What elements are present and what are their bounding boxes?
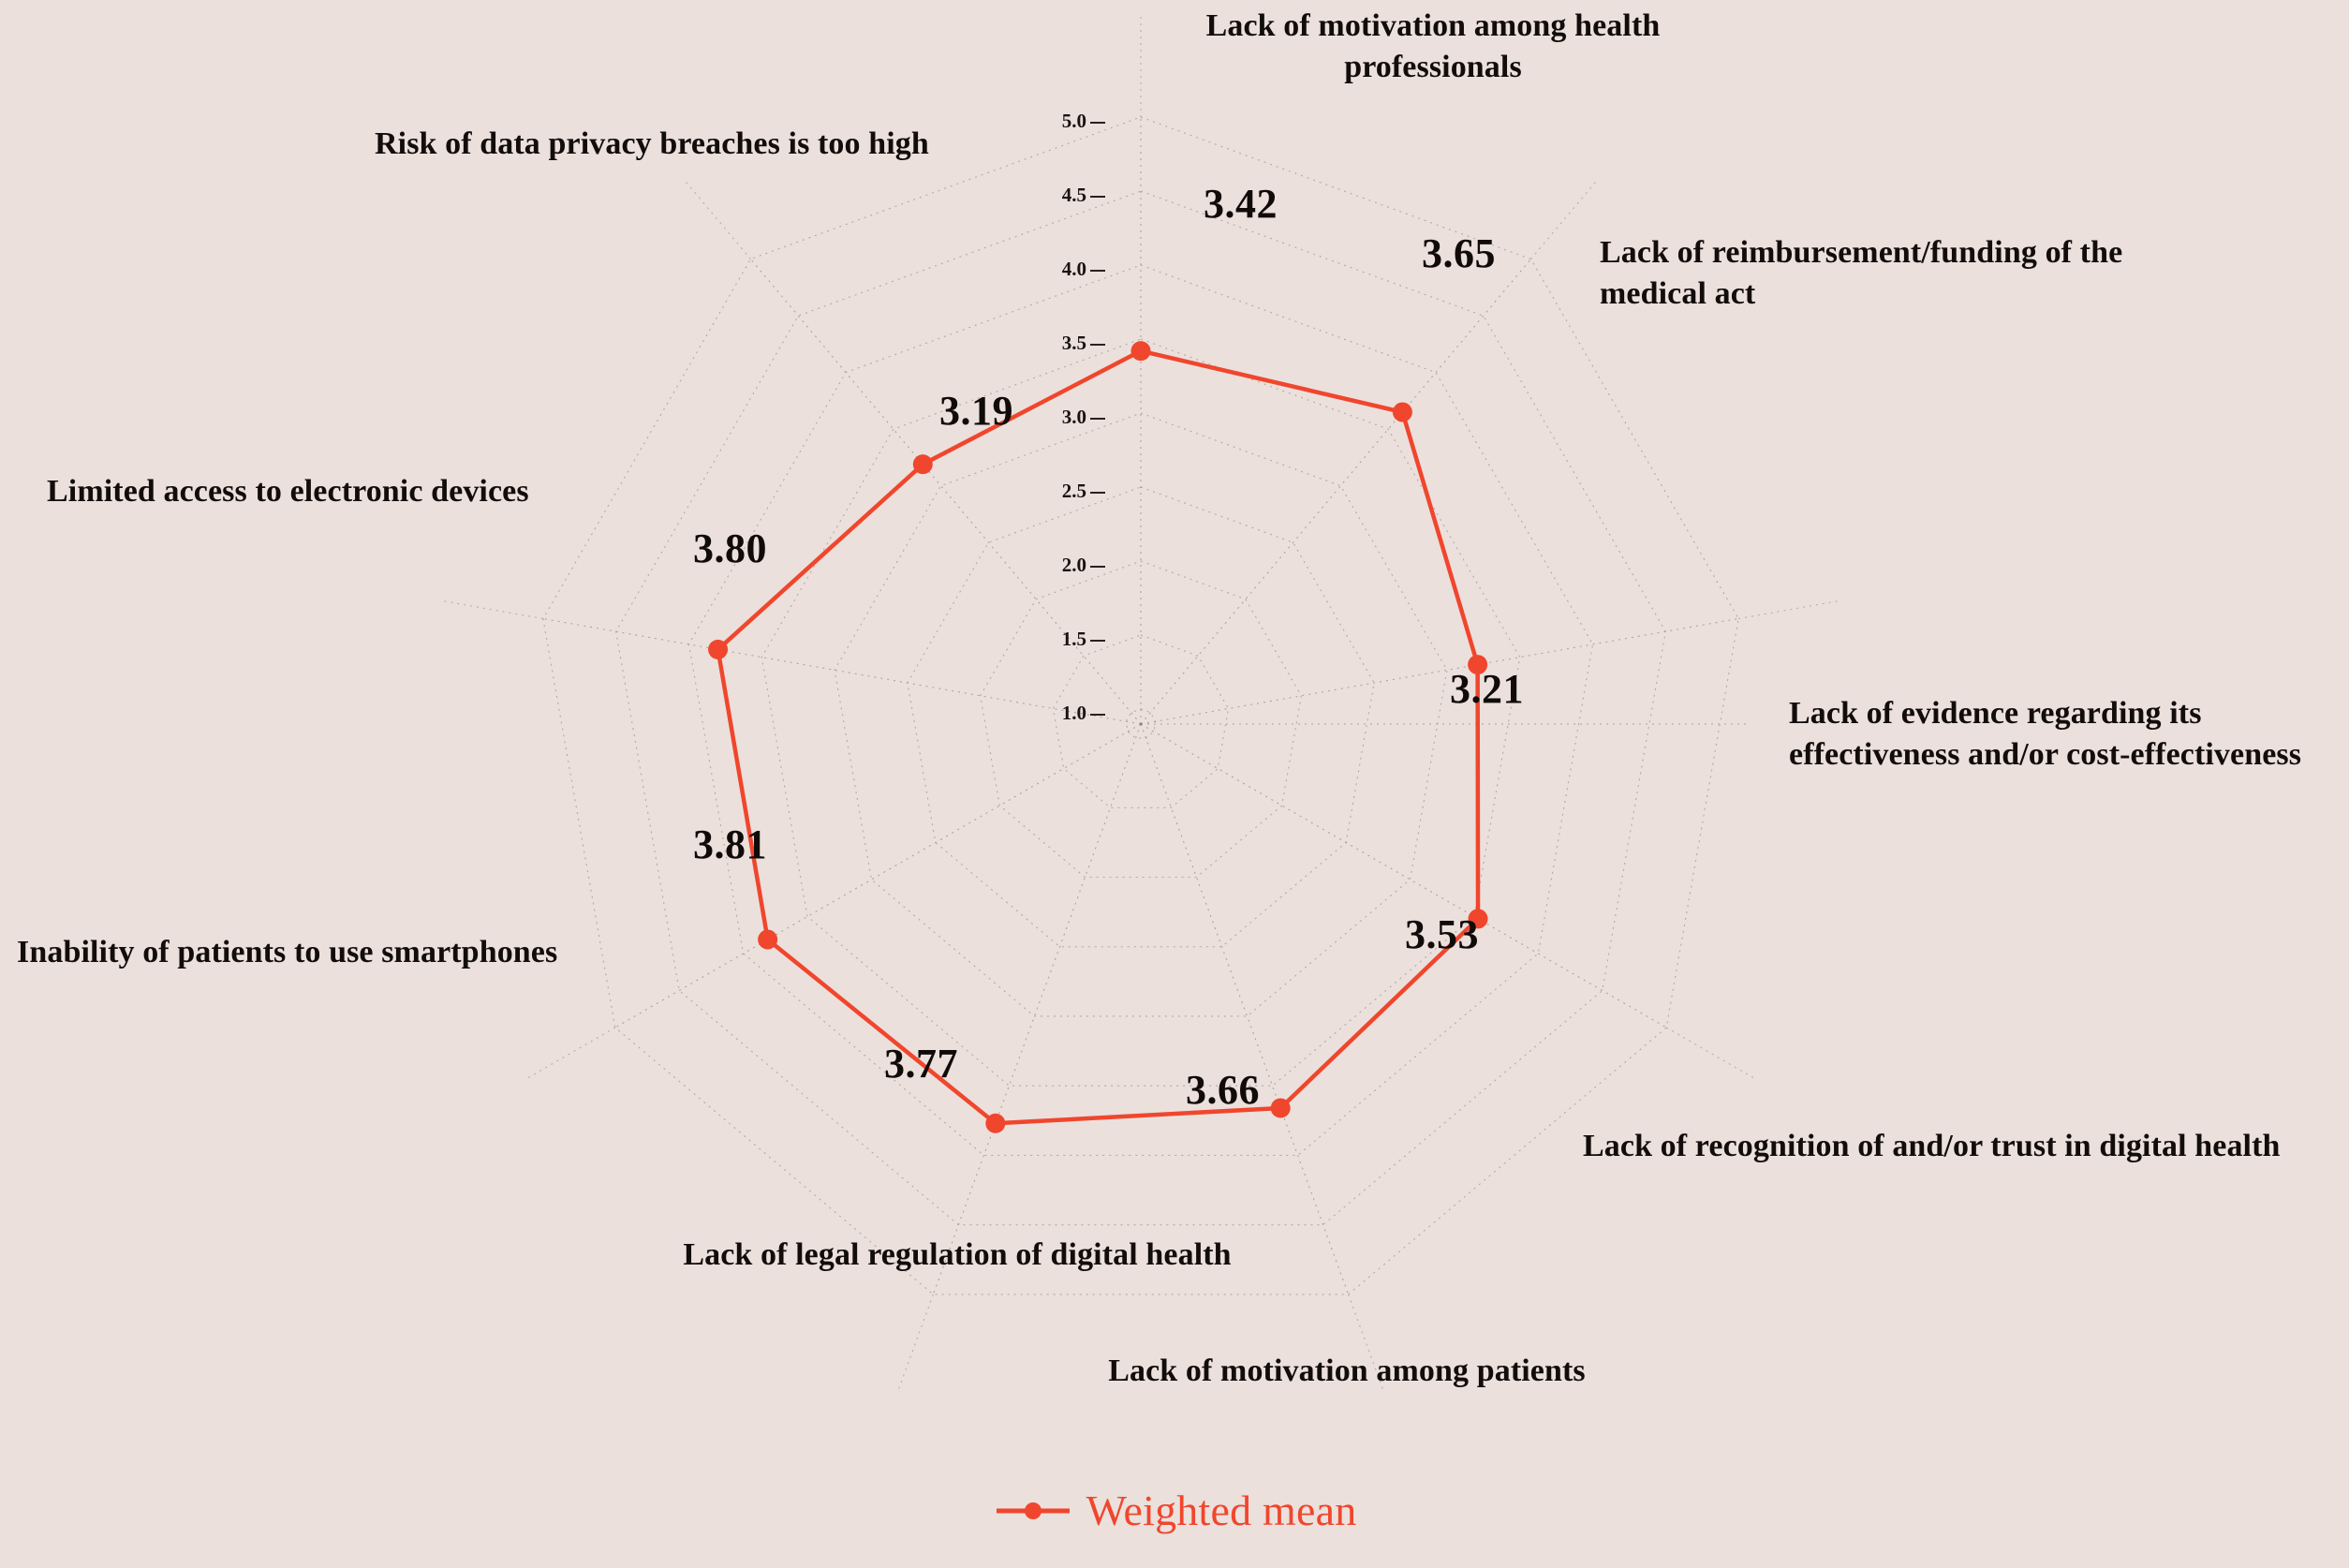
- grid-ring: [981, 561, 1302, 878]
- spoke-extension: [442, 600, 543, 618]
- radial-tick-label-6: 4.0: [1030, 258, 1086, 281]
- spoke: [1141, 724, 1349, 1294]
- radial-tick-label-5: 3.5: [1030, 332, 1086, 355]
- grid-ring: [835, 413, 1447, 1016]
- data-value-label-2: 3.21: [1450, 665, 1524, 713]
- spoke-extension: [1531, 180, 1598, 259]
- grid-ring: [543, 117, 1738, 1294]
- radial-tick-label-1: 1.5: [1030, 628, 1086, 651]
- data-value-label-1: 3.65: [1422, 229, 1496, 277]
- spoke: [1141, 724, 1666, 1028]
- radial-tick-mark-2: [1090, 566, 1105, 568]
- radial-spokes: [543, 117, 1738, 1294]
- grid-ring: [761, 339, 1520, 1086]
- data-point: [1131, 341, 1151, 361]
- data-value-label-3: 3.53: [1405, 910, 1479, 958]
- series-line-0: [718, 351, 1478, 1124]
- spoke-extension: [685, 180, 751, 259]
- data-point: [913, 454, 933, 474]
- data-value-label-7: 3.80: [693, 525, 767, 572]
- data-point: [1393, 403, 1412, 422]
- radial-tick-mark-7: [1090, 196, 1105, 198]
- category-label-6: Inability of patients to use smartphones: [17, 932, 598, 973]
- spoke: [615, 724, 1141, 1028]
- legend-label: Weighted mean: [1086, 1486, 1357, 1535]
- category-label-8: Risk of data privacy breaches is too hig…: [375, 124, 1012, 165]
- category-label-3: Lack of recognition of and/or trust in d…: [1583, 1126, 2342, 1167]
- category-label-2: Lack of evidence regarding its effective…: [1789, 693, 2349, 775]
- category-label-0: Lack of motivation among health professi…: [1133, 6, 1733, 87]
- data-value-label-8: 3.19: [939, 387, 1013, 435]
- radial-tick-mark-0: [1090, 714, 1105, 716]
- radial-tick-mark-4: [1090, 418, 1105, 420]
- spoke-extension: [526, 1028, 615, 1079]
- radial-tick-mark-6: [1090, 270, 1105, 272]
- data-value-label-4: 3.66: [1186, 1066, 1260, 1114]
- data-point: [1271, 1098, 1291, 1117]
- data-point: [758, 929, 777, 949]
- spoke: [933, 724, 1141, 1294]
- category-label-4: Lack of motivation among patients: [1066, 1351, 1628, 1392]
- category-label-7: Limited access to electronic devices: [47, 471, 590, 512]
- radial-tick-label-8: 5.0: [1030, 110, 1086, 133]
- radar-chart-figure: Lack of motivation among health professi…: [0, 0, 2349, 1568]
- category-label-1: Lack of reimbursement/funding of the med…: [1600, 232, 2255, 314]
- radial-tick-mark-5: [1090, 344, 1105, 346]
- radial-tick-mark-1: [1090, 640, 1105, 642]
- spoke-extension: [1666, 1028, 1755, 1079]
- data-point: [985, 1114, 1005, 1133]
- data-value-label-5: 3.77: [884, 1040, 958, 1087]
- radial-tick-label-4: 3.0: [1030, 406, 1086, 429]
- radial-gridlines: [543, 117, 1738, 1294]
- legend: Weighted mean: [0, 1486, 2349, 1535]
- data-value-label-6: 3.81: [693, 821, 767, 868]
- radial-tick-label-0: 1.0: [1030, 702, 1086, 725]
- data-value-label-0: 3.42: [1204, 180, 1278, 228]
- spoke-extension: [1738, 600, 1839, 618]
- legend-line-marker-icon: [993, 1497, 1073, 1525]
- radial-tick-label-3: 2.5: [1030, 480, 1086, 503]
- spoke: [1141, 618, 1738, 724]
- radial-tick-label-2: 2.0: [1030, 554, 1086, 577]
- spoke-extension: [898, 1294, 934, 1391]
- data-point: [708, 640, 728, 659]
- radial-tick-mark-8: [1090, 122, 1105, 124]
- radial-tick-mark-3: [1090, 492, 1105, 494]
- radial-tick-label-7: 4.5: [1030, 184, 1086, 207]
- category-label-5: Lack of legal regulation of digital heal…: [667, 1235, 1248, 1276]
